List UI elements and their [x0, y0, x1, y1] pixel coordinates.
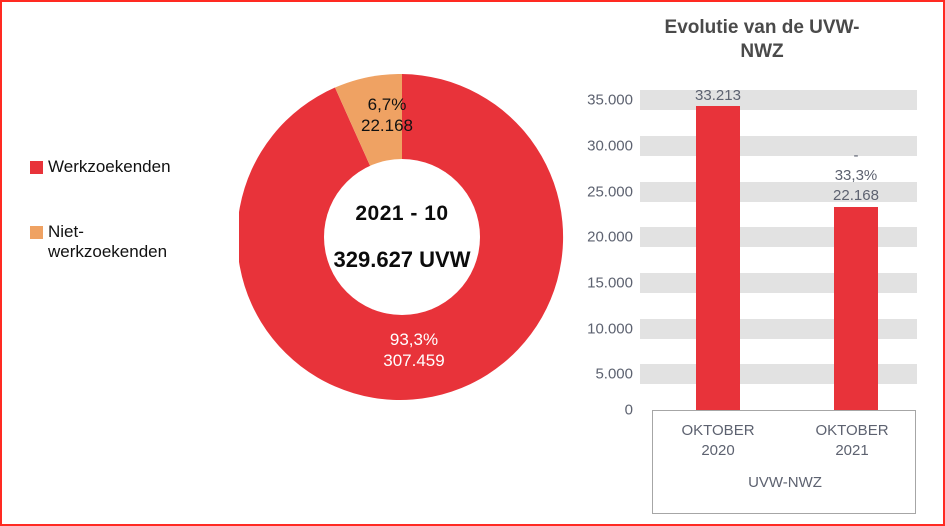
y-tick-label: 5.000 — [561, 366, 633, 383]
donut-svg — [239, 74, 565, 400]
x-category-label-2020: OKTOBER 2020 — [659, 421, 777, 462]
x-category-label-2021: OKTOBER 2021 — [793, 421, 911, 462]
donut-hole — [324, 159, 480, 315]
y-tick-label: 15.000 — [561, 275, 633, 292]
x-axis-label-box: OKTOBER 2020 OKTOBER 2021 UVW-NWZ — [652, 410, 916, 514]
legend-item-niet-werkzoekenden[interactable]: Niet- werkzoekenden — [30, 222, 230, 263]
y-tick-label: 20.000 — [561, 229, 633, 246]
legend-label-werkzoekenden: Werkzoekenden — [48, 157, 171, 178]
y-tick-label: 10.000 — [561, 321, 633, 338]
y-tick-label: 0 — [561, 402, 633, 419]
legend-item-werkzoekenden[interactable]: Werkzoekenden — [30, 157, 230, 178]
bar-value-label-2020: 33.213 — [668, 86, 768, 106]
legend-label-niet-werkzoekenden: Niet- werkzoekenden — [48, 222, 167, 263]
donut-legend: Werkzoekenden Niet- werkzoekenden — [30, 157, 230, 307]
bar-oktober-2021[interactable] — [834, 207, 878, 410]
legend-swatch-niet-werkzoekenden — [30, 226, 43, 239]
legend-swatch-werkzoekenden — [30, 161, 43, 174]
donut-chart: 2021 - 10 329.627 UVW 6,7% 22.168 93,3% … — [239, 74, 565, 400]
x-axis-group-label: UVW-NWZ — [653, 474, 917, 491]
slide-canvas: Werkzoekenden Niet- werkzoekenden 2021 -… — [0, 0, 945, 526]
bar-oktober-2020[interactable] — [696, 106, 740, 410]
bar-chart: Evolutie van de UVW- NWZ 35.000 30.000 2… — [562, 10, 937, 520]
bar-value-label-2021: - 33,3% 22.168 — [806, 146, 906, 206]
y-tick-label: 25.000 — [561, 184, 633, 201]
bar-plot-area: 35.000 30.000 25.000 20.000 15.000 10.00… — [640, 90, 917, 410]
y-tick-label: 35.000 — [561, 92, 633, 109]
bar-chart-title: Evolutie van de UVW- NWZ — [602, 16, 922, 65]
y-tick-label: 30.000 — [561, 138, 633, 155]
